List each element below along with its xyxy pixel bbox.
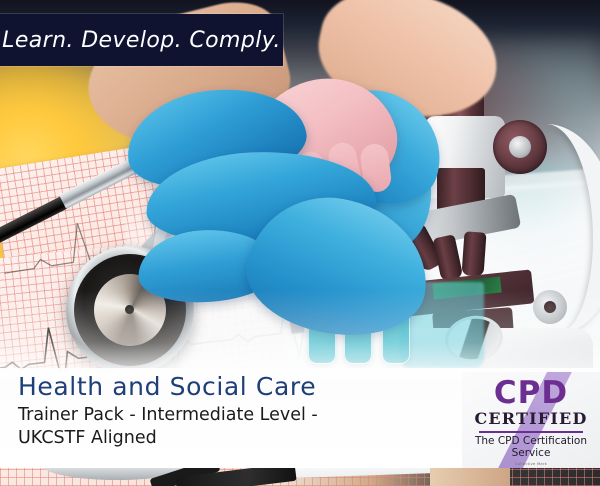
strip-tan-object bbox=[430, 468, 510, 486]
tagline-banner: Learn. Develop. Comply. bbox=[0, 14, 283, 66]
microscope-objective-lens bbox=[461, 231, 486, 276]
tagline-text: Learn. Develop. Comply. bbox=[2, 28, 281, 53]
cpd-certified-text: CERTIFIED bbox=[462, 411, 600, 427]
cpd-collective-mark-text: Collective Mark bbox=[462, 462, 600, 466]
cpd-divider-rule bbox=[479, 431, 583, 433]
cpd-service-line-2: Service bbox=[462, 448, 600, 460]
cpd-letters: CPD bbox=[462, 378, 600, 409]
course-cover-image: Learn. Develop. Comply. Health and Socia… bbox=[0, 0, 600, 486]
title-text-block: Health and Social Care Trainer Pack - In… bbox=[18, 372, 438, 450]
bottom-photo-strip bbox=[0, 468, 600, 486]
course-subtitle: Trainer Pack - Intermediate Level - UKCS… bbox=[18, 404, 378, 450]
microscope-coarse-focus-knob bbox=[493, 120, 547, 174]
microscope-fine-focus-knob bbox=[533, 290, 567, 324]
cpd-service-line-1: The CPD Certification bbox=[462, 436, 600, 448]
course-title: Health and Social Care bbox=[18, 372, 438, 402]
teamwork-hands-stack bbox=[118, 34, 418, 324]
cpd-certified-badge: CPD CERTIFIED The CPD Certification Serv… bbox=[462, 372, 600, 468]
